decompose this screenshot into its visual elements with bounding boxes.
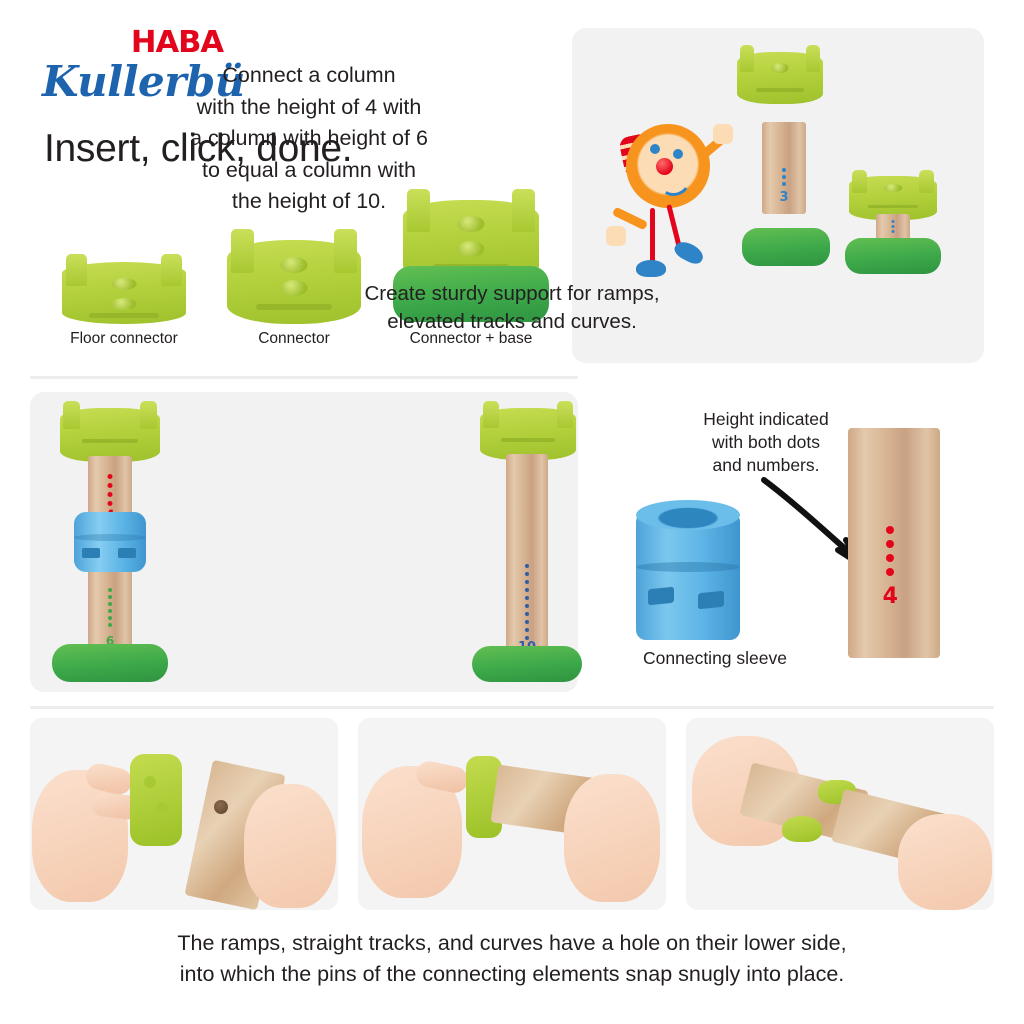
connector-in-hand (130, 754, 182, 846)
divider-top (30, 376, 578, 379)
wood-block-dots (886, 526, 894, 582)
brand-haba-wordmark: HABA (131, 28, 246, 58)
connector-joint-lower (782, 816, 822, 842)
single-column-10: 10 (472, 408, 582, 674)
track-hole (214, 800, 228, 814)
column10-top-connector (480, 408, 576, 460)
assembled-support-unit: 3 (845, 176, 941, 272)
wood-block-number: 4 (883, 584, 898, 609)
photo-step-1 (30, 718, 338, 910)
hand-right (244, 784, 336, 908)
composite-column-4-plus-6: 4 6 (52, 408, 168, 674)
connecting-sleeve-caption: Connecting sleeve (600, 648, 830, 669)
infographic-page: HABA Kullerbü Insert, click, done. Floor… (0, 0, 1024, 1024)
support-wood-column: 3 (762, 122, 806, 214)
upper-height-dots (108, 474, 113, 510)
column10-height-dots (525, 564, 529, 644)
column-top-connector (60, 408, 160, 462)
column10-wood: 10 (506, 454, 548, 658)
columns-panel-text: Connect a column with the height of 4 wi… (150, 60, 468, 218)
column-height-number: 3 (779, 190, 788, 205)
connecting-sleeve-graphic (636, 500, 740, 640)
clown-eye-left (650, 144, 660, 154)
support-panel-text: Create sturdy support for ramps, elevate… (0, 280, 1024, 335)
bottom-description: The ramps, straight tracks, and curves h… (0, 928, 1024, 989)
photo-step-3 (686, 718, 994, 910)
clown-shoe-right (672, 238, 706, 267)
instruction-photos (30, 718, 994, 910)
clown-character-illustration (612, 118, 737, 278)
column-height-dots (782, 168, 786, 189)
clown-eye-right (673, 149, 683, 159)
support-green-base (742, 228, 830, 266)
clown-hand-right (713, 124, 733, 144)
photo-step-2 (358, 718, 666, 910)
clown-shoe-left (636, 260, 666, 277)
clown-leg-left (650, 208, 655, 263)
hand-right (564, 774, 660, 902)
divider-bottom (30, 706, 994, 709)
clown-hand-left (606, 226, 626, 246)
hand-right (898, 814, 992, 910)
support-connector-piece (737, 52, 823, 104)
lower-height-dots (108, 588, 112, 630)
column10-green-base (472, 646, 582, 682)
column-connecting-sleeve (74, 512, 146, 572)
column-green-base (52, 644, 168, 682)
height-marked-wood-block: 4 (848, 428, 940, 658)
height-indicator-text: Height indicated with both dots and numb… (672, 408, 860, 476)
